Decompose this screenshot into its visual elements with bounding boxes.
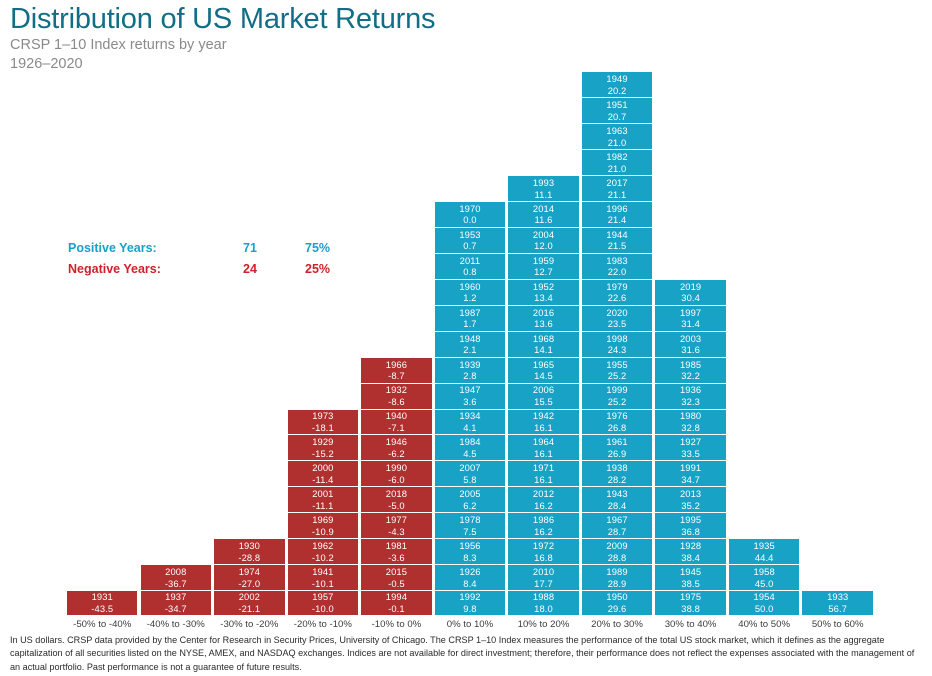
cell-value: 32.2 <box>681 370 700 382</box>
cell-year: 1995 <box>680 514 701 526</box>
cell-value: 28.2 <box>608 474 627 486</box>
x-axis-tick-label: 20% to 30% <box>581 616 653 632</box>
cell-year: 1962 <box>312 540 333 552</box>
cell-year: 1959 <box>533 255 554 267</box>
cell-year: 1974 <box>239 566 260 578</box>
cell-year: 1971 <box>533 462 554 474</box>
histogram-cell: 20110.8 <box>434 253 506 279</box>
histogram-cell: 1974-27.0 <box>213 564 285 590</box>
cell-value: -36.7 <box>165 578 187 590</box>
histogram-cell: 198928.9 <box>581 564 653 590</box>
cell-year: 2005 <box>459 488 480 500</box>
histogram-chart: 1931-43.52008-36.71937-34.71930-28.81974… <box>66 44 874 616</box>
histogram-cell: 19844.5 <box>434 434 506 460</box>
histogram-cell: 19787.5 <box>434 512 506 538</box>
cell-year: 1992 <box>459 591 480 603</box>
cell-year: 1940 <box>386 410 407 422</box>
cell-value: -7.1 <box>388 422 405 434</box>
histogram-cell: 202023.5 <box>581 305 653 331</box>
cell-year: 1954 <box>754 591 775 603</box>
histogram-cell: 19601.2 <box>434 279 506 305</box>
histogram-cell: 1969-10.9 <box>287 512 359 538</box>
cell-value: -10.2 <box>312 552 334 564</box>
cell-value: 20.7 <box>608 111 627 123</box>
cell-value: 45.0 <box>755 578 774 590</box>
histogram-cell: 195029.6 <box>581 590 653 616</box>
cell-year: 1937 <box>165 591 186 603</box>
cell-value: 12.7 <box>534 266 553 278</box>
histogram-column: 193356.7 <box>801 590 873 616</box>
cell-value: 1.7 <box>463 318 476 330</box>
cell-value: 28.9 <box>608 578 627 590</box>
cell-year: 1979 <box>606 281 627 293</box>
cell-year: 1967 <box>606 514 627 526</box>
cell-year: 1948 <box>459 333 480 345</box>
histogram-cell: 2001-11.1 <box>287 486 359 512</box>
histogram-cell: 2002-21.1 <box>213 590 285 616</box>
histogram-column: 2008-36.71937-34.7 <box>140 564 212 616</box>
cell-value: 38.8 <box>681 603 700 615</box>
histogram-cell: 1962-10.2 <box>287 538 359 564</box>
cell-year: 1999 <box>606 384 627 396</box>
histogram-cell: 2008-36.7 <box>140 564 212 590</box>
cell-year: 1963 <box>606 125 627 137</box>
histogram-cell: 199536.8 <box>654 512 726 538</box>
histogram-cell: 201216.2 <box>507 486 579 512</box>
histogram-cell: 196321.0 <box>581 123 653 149</box>
cell-year: 2017 <box>606 177 627 189</box>
cell-value: 20.2 <box>608 85 627 97</box>
cell-value: 56.7 <box>828 603 847 615</box>
cell-value: 32.8 <box>681 422 700 434</box>
x-axis-tick-label: 0% to 10% <box>434 616 506 632</box>
histogram-column: 1930-28.81974-27.02002-21.1 <box>213 538 285 616</box>
cell-value: 5.8 <box>463 474 476 486</box>
histogram-cell: 197626.8 <box>581 409 653 435</box>
x-axis-tick-label: -40% to -30% <box>140 616 212 632</box>
cell-year: 2011 <box>460 255 481 267</box>
histogram-cell: 2015-0.5 <box>360 564 432 590</box>
histogram-cell: 200412.0 <box>507 227 579 253</box>
cell-year: 1955 <box>606 359 627 371</box>
cell-value: 0.8 <box>463 266 476 278</box>
cell-value: 38.5 <box>681 578 700 590</box>
cell-year: 1981 <box>386 540 407 552</box>
cell-value: 7.5 <box>463 526 476 538</box>
histogram-cell: 1930-28.8 <box>213 538 285 564</box>
histogram-cell: 197922.6 <box>581 279 653 305</box>
x-axis-tick-label: -20% to -10% <box>287 616 359 632</box>
histogram-cell: 193632.3 <box>654 383 726 409</box>
cell-year: 1988 <box>533 591 554 603</box>
histogram-cell: 195450.0 <box>728 590 800 616</box>
cell-value: -28.8 <box>238 552 260 564</box>
cell-year: 2014 <box>533 203 554 215</box>
cell-year: 1964 <box>533 436 554 448</box>
cell-year: 1960 <box>459 281 480 293</box>
cell-year: 1986 <box>533 514 554 526</box>
cell-year: 1997 <box>680 307 701 319</box>
cell-year: 1987 <box>459 307 480 319</box>
histogram-cell: 193356.7 <box>801 590 873 616</box>
cell-value: -4.3 <box>388 526 405 538</box>
x-axis-tick-label: 10% to 20% <box>507 616 579 632</box>
x-axis-tick-label: 50% to 60% <box>801 616 873 632</box>
histogram-cell: 201335.2 <box>654 486 726 512</box>
cell-year: 1933 <box>827 591 848 603</box>
cell-value: 8.3 <box>463 552 476 564</box>
histogram-cell: 201613.6 <box>507 305 579 331</box>
cell-value: 25.2 <box>608 370 627 382</box>
cell-value: 28.7 <box>608 526 627 538</box>
cell-year: 1989 <box>606 566 627 578</box>
histogram-cell: 195912.7 <box>507 253 579 279</box>
cell-value: 26.8 <box>608 422 627 434</box>
cell-year: 1934 <box>459 410 480 422</box>
cell-value: 13.4 <box>534 292 553 304</box>
histogram-cell: 194920.2 <box>581 71 653 97</box>
histogram-cell: 2000-11.4 <box>287 460 359 486</box>
page-title: Distribution of US Market Returns <box>10 2 435 36</box>
histogram-cell: 20075.8 <box>434 460 506 486</box>
cell-year: 2006 <box>533 384 554 396</box>
cell-value: 14.1 <box>534 344 553 356</box>
cell-value: 23.5 <box>608 318 627 330</box>
cell-year: 1949 <box>606 73 627 85</box>
cell-year: 1993 <box>533 177 554 189</box>
histogram-column: 1931-43.5 <box>66 590 138 616</box>
cell-year: 1965 <box>533 359 554 371</box>
histogram-cell: 1973-18.1 <box>287 409 359 435</box>
histogram-cell: 1931-43.5 <box>66 590 138 616</box>
cell-year: 2020 <box>606 307 627 319</box>
histogram-cell: 19344.1 <box>434 409 506 435</box>
cell-year: 2004 <box>533 229 554 241</box>
cell-year: 1929 <box>312 436 333 448</box>
histogram-cell: 198616.2 <box>507 512 579 538</box>
cell-value: 11.1 <box>535 189 553 201</box>
cell-value: 26.9 <box>608 448 627 460</box>
cell-value: 4.1 <box>463 422 476 434</box>
histogram-column: 199311.1201411.6200412.0195912.7195213.4… <box>507 175 579 616</box>
cell-year: 1961 <box>606 436 627 448</box>
cell-year: 1946 <box>386 436 407 448</box>
histogram-cell: 1932-8.6 <box>360 383 432 409</box>
cell-year: 1927 <box>680 436 701 448</box>
histogram-cell: 1994-0.1 <box>360 590 432 616</box>
cell-year: 1952 <box>533 281 554 293</box>
x-axis-tick-label: -30% to -20% <box>213 616 285 632</box>
cell-value: 1.2 <box>463 292 476 304</box>
cell-value: 31.6 <box>681 344 700 356</box>
cell-value: -5.0 <box>388 500 405 512</box>
histogram-column: 1973-18.11929-15.22000-11.42001-11.11969… <box>287 409 359 617</box>
cell-year: 1984 <box>459 436 480 448</box>
cell-value: 0.0 <box>463 214 476 226</box>
histogram-cell: 197216.8 <box>507 538 579 564</box>
cell-value: -6.0 <box>388 474 405 486</box>
cell-value: -11.4 <box>312 474 333 486</box>
cell-value: -8.7 <box>388 370 405 382</box>
histogram-cell: 193544.4 <box>728 538 800 564</box>
histogram-cell: 1937-34.7 <box>140 590 212 616</box>
cell-year: 1973 <box>312 410 333 422</box>
cell-year: 1975 <box>680 591 701 603</box>
cell-year: 2003 <box>680 333 701 345</box>
cell-year: 1935 <box>754 540 775 552</box>
cell-year: 1972 <box>533 540 554 552</box>
histogram-cell: 199824.3 <box>581 331 653 357</box>
cell-year: 2000 <box>312 462 333 474</box>
histogram-cell: 195525.2 <box>581 357 653 383</box>
cell-value: 16.1 <box>534 474 553 486</box>
cell-year: 1944 <box>606 229 627 241</box>
histogram-cell: 197116.1 <box>507 460 579 486</box>
cell-year: 2007 <box>459 462 480 474</box>
cell-value: 21.5 <box>608 240 627 252</box>
histogram-cell: 1957-10.0 <box>287 590 359 616</box>
x-axis-tick-label: 40% to 50% <box>728 616 800 632</box>
cell-value: 50.0 <box>755 603 774 615</box>
cell-value: 29.6 <box>608 603 627 615</box>
histogram-cell: 194216.1 <box>507 409 579 435</box>
cell-value: 16.2 <box>534 526 553 538</box>
cell-year: 1968 <box>533 333 554 345</box>
cell-year: 2002 <box>239 591 260 603</box>
cell-value: 16.2 <box>534 500 553 512</box>
cell-year: 1951 <box>606 99 627 111</box>
cell-value: 14.5 <box>534 370 553 382</box>
histogram-cell: 199134.7 <box>654 460 726 486</box>
cell-value: -3.6 <box>388 552 405 564</box>
histogram-cell: 1929-15.2 <box>287 434 359 460</box>
cell-year: 1996 <box>606 203 627 215</box>
cell-value: -21.1 <box>238 603 260 615</box>
histogram-cell: 199311.1 <box>507 175 579 201</box>
cell-value: 2.1 <box>463 344 476 356</box>
histogram-cell: 19482.1 <box>434 331 506 357</box>
cell-value: 21.0 <box>608 137 627 149</box>
histogram-cell: 192838.4 <box>654 538 726 564</box>
cell-value: -27.0 <box>238 578 260 590</box>
cell-year: 2008 <box>165 566 186 578</box>
cell-value: 16.8 <box>534 552 553 564</box>
x-axis-tick-label: -50% to -40% <box>66 616 138 632</box>
cell-value: -8.6 <box>388 396 405 408</box>
cell-year: 1931 <box>92 591 113 603</box>
cell-year: 1936 <box>680 384 701 396</box>
cell-year: 1966 <box>386 359 407 371</box>
cell-value: 33.5 <box>681 448 700 460</box>
cell-value: 28.4 <box>608 500 627 512</box>
histogram-cell: 201411.6 <box>507 201 579 227</box>
cell-year: 1947 <box>459 384 480 396</box>
cell-year: 1950 <box>606 591 627 603</box>
cell-value: 21.1 <box>608 189 627 201</box>
histogram-cell: 1977-4.3 <box>360 512 432 538</box>
cell-year: 1985 <box>680 359 701 371</box>
histogram-cell: 200615.5 <box>507 383 579 409</box>
histogram-cell: 192733.5 <box>654 434 726 460</box>
histogram-column: 201930.4199731.4200331.6198532.2193632.3… <box>654 279 726 616</box>
cell-year: 1953 <box>459 229 480 241</box>
cell-value: 24.3 <box>608 344 627 356</box>
cell-value: 44.4 <box>755 552 774 564</box>
cell-value: 35.2 <box>681 500 700 512</box>
cell-value: 21.4 <box>608 214 627 226</box>
cell-year: 1930 <box>239 540 260 552</box>
footnote: In US dollars. CRSP data provided by the… <box>10 634 924 674</box>
histogram-cell: 196126.9 <box>581 434 653 460</box>
histogram-cell: 199731.4 <box>654 305 726 331</box>
histogram-cell: 200331.6 <box>654 331 726 357</box>
cell-value: 12.0 <box>534 240 553 252</box>
cell-value: 34.7 <box>681 474 700 486</box>
histogram-cell: 196814.1 <box>507 331 579 357</box>
x-axis-tick-label: -10% to 0% <box>360 616 432 632</box>
histogram-cell: 19700.0 <box>434 201 506 227</box>
cell-year: 2016 <box>533 307 554 319</box>
cell-year: 1980 <box>680 410 701 422</box>
histogram-cell: 19268.4 <box>434 564 506 590</box>
histogram-cell: 1981-3.6 <box>360 538 432 564</box>
cell-value: -15.2 <box>312 448 334 460</box>
histogram-column: 1966-8.71932-8.61940-7.11946-6.21990-6.0… <box>360 357 432 616</box>
cell-year: 1970 <box>459 203 480 215</box>
cell-year: 1958 <box>754 566 775 578</box>
cell-year: 1977 <box>386 514 407 526</box>
histogram-cell: 198221.0 <box>581 149 653 175</box>
cell-value: 9.8 <box>463 603 476 615</box>
cell-value: 30.4 <box>681 292 700 304</box>
histogram-cell: 199621.4 <box>581 201 653 227</box>
cell-value: -10.0 <box>312 603 334 615</box>
histogram-cell: 19568.3 <box>434 538 506 564</box>
cell-year: 1998 <box>606 333 627 345</box>
cell-value: -43.5 <box>91 603 113 615</box>
cell-value: 16.1 <box>534 422 553 434</box>
cell-value: 28.8 <box>608 552 627 564</box>
cell-value: 18.0 <box>534 603 553 615</box>
cell-value: 13.6 <box>534 318 553 330</box>
cell-value: 22.0 <box>608 266 627 278</box>
histogram-cell: 200928.8 <box>581 538 653 564</box>
cell-year: 2012 <box>533 488 554 500</box>
histogram-cell: 198818.0 <box>507 590 579 616</box>
histogram-cell: 201930.4 <box>654 279 726 305</box>
cell-year: 1939 <box>459 359 480 371</box>
histogram-cell: 196728.7 <box>581 512 653 538</box>
cell-year: 1976 <box>606 410 627 422</box>
cell-value: 36.8 <box>681 526 700 538</box>
cell-value: -10.9 <box>312 526 334 538</box>
cell-value: 25.2 <box>608 396 627 408</box>
histogram-cell: 2018-5.0 <box>360 486 432 512</box>
cell-year: 2001 <box>312 488 333 500</box>
histogram-cell: 193828.2 <box>581 460 653 486</box>
cell-year: 2013 <box>680 488 701 500</box>
cell-value: 21.0 <box>608 163 627 175</box>
histogram-cell: 198532.2 <box>654 357 726 383</box>
histogram-column: 194920.2195120.7196321.0198221.0201721.1… <box>581 71 653 616</box>
histogram-cell: 196514.5 <box>507 357 579 383</box>
cell-value: -6.2 <box>388 448 405 460</box>
cell-value: 15.5 <box>534 396 553 408</box>
histogram-cell: 1966-8.7 <box>360 357 432 383</box>
histogram-cell: 194538.5 <box>654 564 726 590</box>
histogram-cell: 19929.8 <box>434 590 506 616</box>
histogram-cell: 198032.8 <box>654 409 726 435</box>
cell-year: 1926 <box>459 566 480 578</box>
histogram-cell: 201721.1 <box>581 175 653 201</box>
histogram-cell: 201017.7 <box>507 564 579 590</box>
cell-year: 2010 <box>533 566 554 578</box>
cell-year: 1928 <box>680 540 701 552</box>
cell-value: -34.7 <box>165 603 187 615</box>
cell-value: 17.7 <box>534 578 553 590</box>
cell-year: 2009 <box>606 540 627 552</box>
histogram-cell: 19392.8 <box>434 357 506 383</box>
histogram-cell: 196416.1 <box>507 434 579 460</box>
histogram-cell: 195213.4 <box>507 279 579 305</box>
cell-value: 3.6 <box>463 396 476 408</box>
cell-year: 1941 <box>312 566 333 578</box>
cell-value: 0.7 <box>463 240 476 252</box>
histogram-column: 19700.019530.720110.819601.219871.719482… <box>434 201 506 616</box>
cell-value: 8.4 <box>463 578 476 590</box>
cell-year: 1982 <box>606 151 627 163</box>
histogram-cell: 197538.8 <box>654 590 726 616</box>
cell-year: 2015 <box>386 566 407 578</box>
x-axis: -50% to -40%-40% to -30%-30% to -20%-20%… <box>66 616 874 632</box>
cell-year: 1938 <box>606 462 627 474</box>
histogram-cell: 20056.2 <box>434 486 506 512</box>
histogram-cell: 19473.6 <box>434 383 506 409</box>
cell-value: -10.1 <box>312 578 334 590</box>
cell-value: 6.2 <box>463 500 476 512</box>
histogram-column: 193544.4195845.0195450.0 <box>728 538 800 616</box>
histogram-cell: 199925.2 <box>581 383 653 409</box>
cell-value: 11.6 <box>535 214 553 226</box>
cell-year: 2018 <box>386 488 407 500</box>
cell-value: 38.4 <box>681 552 700 564</box>
histogram-cell: 1990-6.0 <box>360 460 432 486</box>
cell-year: 1994 <box>386 591 407 603</box>
cell-year: 1978 <box>459 514 480 526</box>
cell-value: 4.5 <box>463 448 476 460</box>
x-axis-tick-label: 30% to 40% <box>654 616 726 632</box>
cell-year: 1991 <box>680 462 701 474</box>
cell-year: 1969 <box>312 514 333 526</box>
histogram-cell: 198322.0 <box>581 253 653 279</box>
histogram-cell: 1941-10.1 <box>287 564 359 590</box>
histogram-cell: 195120.7 <box>581 97 653 123</box>
cell-year: 2019 <box>680 281 701 293</box>
chart-page: Distribution of US Market Returns CRSP 1… <box>0 0 932 676</box>
cell-value: -11.1 <box>312 500 333 512</box>
histogram-cell: 1946-6.2 <box>360 434 432 460</box>
cell-value: 2.8 <box>463 370 476 382</box>
histogram-cell: 19871.7 <box>434 305 506 331</box>
cell-year: 1943 <box>606 488 627 500</box>
cell-year: 1956 <box>459 540 480 552</box>
histogram-cell: 1940-7.1 <box>360 409 432 435</box>
histogram-cell: 194328.4 <box>581 486 653 512</box>
cell-value: 32.3 <box>681 396 700 408</box>
cell-year: 1990 <box>386 462 407 474</box>
cell-value: 31.4 <box>681 318 700 330</box>
histogram-cell: 194421.5 <box>581 227 653 253</box>
